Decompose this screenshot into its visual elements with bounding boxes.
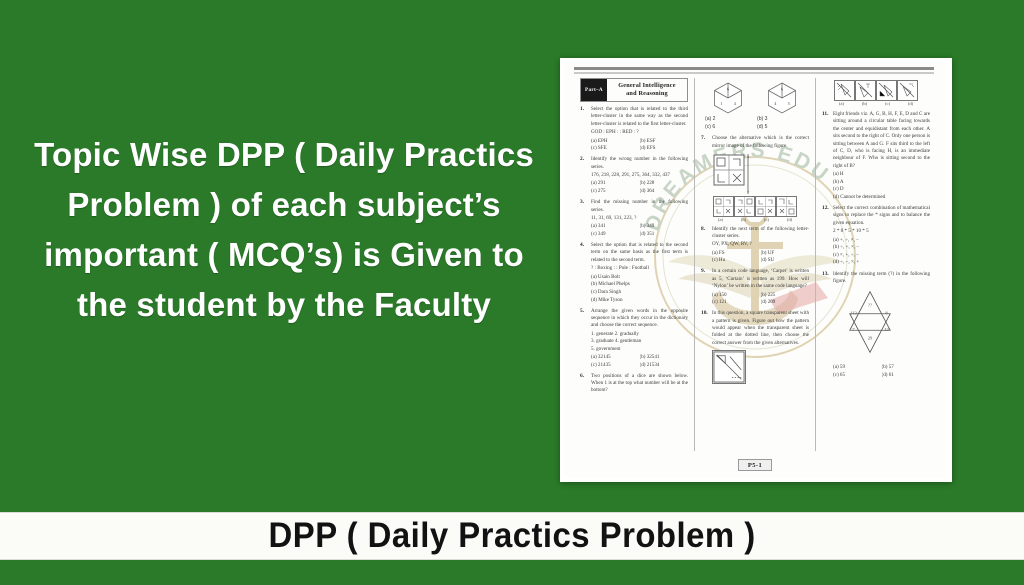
option: (d) 351: [640, 231, 689, 239]
figure-label: (b): [732, 217, 755, 222]
question-number: 12.: [822, 205, 833, 267]
question-sub: OY, PX, QW, RV, ?: [712, 241, 809, 248]
option: (c) 121: [712, 299, 761, 307]
svg-text:13: 13: [884, 328, 889, 333]
question-number: 11.: [822, 111, 833, 202]
svg-text:113: 113: [850, 311, 857, 316]
dice-options: (a) 2 (b) 3 (c) 6 (d) 5: [701, 116, 809, 131]
question-text: Select the option that is related to the…: [591, 106, 688, 128]
question-number: 3.: [580, 199, 591, 238]
question-options: (a) +, ÷, ×, − (b) ÷, +, ×, − (c) ×, +, …: [833, 237, 930, 268]
question-item: 13. Identify the missing term (?) in the…: [822, 271, 930, 380]
question-item: 6. Two positions of a dice are shown bel…: [580, 373, 688, 395]
question-options: (a) EPH (b) ESF (c) SFE (d) EFS: [591, 138, 688, 153]
figure-label: (d): [778, 217, 801, 222]
figure-label: (c): [755, 217, 778, 222]
svg-text:Y: Y: [747, 190, 750, 194]
option: (c) 21435: [591, 362, 640, 370]
question-item: 5. Arrange the given words in the opposi…: [580, 308, 688, 370]
question-number: 1.: [580, 106, 591, 153]
mirror-answer-d: [897, 80, 918, 101]
option: (a) 2: [705, 116, 757, 124]
question-sub: 2 * 8 * 5 * 10 * 5: [833, 228, 930, 235]
part-title-text1: General Intelligence: [618, 82, 675, 90]
bottom-banner: DPP ( Daily Practics Problem ): [0, 512, 1024, 560]
question-text: Identify the wrong number in the followi…: [591, 156, 688, 171]
star-of-david-figure: ?? 113 8 7 13 29: [833, 288, 907, 356]
document-image: DREAMERS EDU Part–A: [560, 58, 952, 482]
folded-sheet-figure: [712, 350, 746, 384]
question-item: 12. Select the correct combination of ma…: [822, 205, 930, 267]
figure-label: (a): [830, 101, 853, 106]
option: (b) 349: [640, 223, 689, 231]
question-text: Select the option that is related to the…: [591, 242, 688, 264]
option: (d) ÷, −, ×, +: [833, 259, 930, 267]
option: (c) Dara Singh: [591, 289, 688, 297]
question-item: 10. In this question, a square transpare…: [701, 310, 809, 392]
option: (d) EFS: [640, 145, 689, 153]
answer-figure-labels: (a) (b) (c) (d): [701, 217, 809, 222]
mirror-figure-svg: X Y: [713, 154, 753, 194]
option: (c) 275: [591, 188, 640, 196]
option: (b) 3: [757, 116, 809, 124]
svg-text:??: ??: [868, 303, 872, 308]
question-text: Identify the missing term (?) in the fol…: [833, 271, 930, 286]
option: (c) SFE: [591, 145, 640, 153]
question-number: 7.: [701, 135, 712, 150]
mirror-answer-b: [855, 80, 876, 101]
page-rule-top: [574, 67, 934, 70]
question-text: Choose the alternative which is the corr…: [712, 135, 809, 150]
dice-figure-2: 6 4 5: [767, 81, 797, 115]
mirror-answer-a: [834, 80, 855, 101]
option: (d) 61: [882, 372, 931, 380]
question-text: Two positions of a dice are shown below.…: [591, 373, 688, 395]
question-sub: 11, 31, 69, 131, 223, ?: [591, 215, 688, 222]
option: (a) FS: [712, 250, 761, 258]
option: (d) 5: [757, 124, 809, 132]
document-page: DREAMERS EDU Part–A: [564, 62, 946, 477]
question-sub: ? : Boxing : : Pole : Football: [591, 265, 688, 272]
option: (b) A: [833, 179, 930, 187]
figure-label: (a): [709, 217, 732, 222]
document-column-right: (a) (b) (c) (d) 11. Eight friends viz. A…: [815, 78, 936, 451]
svg-text:29: 29: [868, 336, 873, 341]
answer-figure-row: [701, 196, 809, 217]
document-columns: Part–A General Intelligence and Reasonin…: [574, 78, 936, 451]
promo-slide: Topic Wise DPP ( Daily Practics Problem …: [0, 0, 1024, 585]
option: (a) 150: [712, 292, 761, 300]
question-number: 4.: [580, 242, 591, 304]
mirror-answer-c: [876, 80, 897, 101]
question-options: (a) 341 (b) 349 (c) 349 (d) 351: [591, 223, 688, 238]
question-options: (a) 59 (b) 57 (c) 65 (d) 61: [833, 364, 930, 379]
question-text: Arrange the given words in the opposite …: [591, 308, 688, 330]
option: (c) ×, +, ÷, −: [833, 252, 930, 260]
option: (d) Mike Tyson: [591, 297, 688, 305]
svg-text:8: 8: [885, 311, 888, 316]
document-column-left: Part–A General Intelligence and Reasonin…: [574, 78, 694, 451]
option: (b) 228: [640, 180, 689, 188]
dice-figure-row: 6 1 4 6 4 5: [701, 81, 809, 115]
question-options: (a) H (b) A (c) D (d) Cannot be determin…: [833, 171, 930, 202]
dice-figure-1: 6 1 4: [713, 81, 743, 115]
option: (b) 32541: [640, 354, 689, 362]
figure-label: (d): [899, 101, 922, 106]
option: (a) Usain Bolt: [591, 274, 688, 282]
question-number: 13.: [822, 271, 833, 380]
option: (a) H: [833, 171, 930, 179]
answer-figure-c: [755, 196, 776, 217]
question-item: 8. Identify the next term of the followi…: [701, 226, 809, 265]
option: (a) 341: [591, 223, 640, 231]
document-footer: P5-1: [564, 459, 946, 471]
question-options: (a) Usain Bolt (b) Michael Phelps (c) Da…: [591, 274, 688, 305]
option: (d) 209: [761, 299, 810, 307]
question-number: 9.: [701, 268, 712, 306]
question-item: 2. Identify the wrong number in the foll…: [580, 156, 688, 195]
option: (c) D: [833, 186, 930, 194]
svg-text:X: X: [747, 155, 750, 159]
question-options: (a) 150 (b) 225 (c) 121 (d) 209: [712, 292, 809, 307]
part-title: General Intelligence and Reasoning: [607, 79, 687, 101]
question-item: 7. Choose the alternative which is the c…: [701, 135, 809, 150]
answer-figure-b: [734, 196, 755, 217]
option: (c) 6: [705, 124, 757, 132]
question-options: (a) 32145 (b) 32541 (c) 21435 (d) 21534: [591, 354, 688, 369]
document-column-middle: 6 1 4 6 4 5: [694, 78, 815, 451]
question-sub: GOD : EPH : : RED : ?: [591, 129, 688, 136]
part-title-text2: and Reasoning: [626, 90, 668, 98]
page-rule-second: [574, 72, 934, 74]
page-number-tag: P5-1: [738, 459, 772, 471]
question-sub: 1. generate 2. gradually 3. graduate 4. …: [591, 331, 688, 353]
question-text: Select the correct combination of mathem…: [833, 205, 930, 227]
part-header: Part–A General Intelligence and Reasonin…: [580, 78, 688, 102]
question-number: 6.: [580, 373, 591, 395]
option: (b) ESF: [640, 138, 689, 146]
option: (b) ÷, +, ×, −: [833, 244, 930, 252]
question-text: Eight friends viz. A, G, B, H, F, E, D a…: [833, 111, 930, 170]
question-text: In a certain code language, ‘Carpet’ is …: [712, 268, 809, 290]
mirror-answer-row: [822, 80, 930, 101]
headline-block: Topic Wise DPP ( Daily Practics Problem …: [24, 130, 544, 331]
question-options: (a) FS (b) UF (c) Hu (d) SU: [712, 250, 809, 265]
option: (c) 349: [591, 231, 640, 239]
answer-figure-d: [776, 196, 797, 217]
question-text: In this question, a square transparent s…: [712, 310, 809, 347]
question-number: 5.: [580, 308, 591, 370]
option: (a) 32145: [591, 354, 640, 362]
question-number: 8.: [701, 226, 712, 265]
mirror-figure: X Y: [701, 154, 809, 194]
question-item: 1. Select the option that is related to …: [580, 106, 688, 153]
option: (b) 57: [882, 364, 931, 372]
question-text: Identify the next term of the following …: [712, 226, 809, 241]
option: (d) Cannot be determined: [833, 194, 930, 202]
question-number: 10.: [701, 310, 712, 392]
option: (a) EPH: [591, 138, 640, 146]
option: (b) UF: [761, 250, 810, 258]
option: (b) Michael Phelps: [591, 281, 688, 289]
option: (d) 21534: [640, 362, 689, 370]
option: (d) 364: [640, 188, 689, 196]
figure-label: (b): [853, 101, 876, 106]
page-title: Topic Wise DPP ( Daily Practics Problem …: [24, 130, 544, 331]
bottom-banner-title: DPP ( Daily Practics Problem ): [268, 516, 755, 556]
question-item: 11. Eight friends viz. A, G, B, H, F, E,…: [822, 111, 930, 202]
question-sub: 176, 218, 228, 291, 275, 364, 332, 437: [591, 172, 688, 179]
option: (c) Hu: [712, 257, 761, 265]
question-item: 3. Find the missing number in the follow…: [580, 199, 688, 238]
question-item: 4. Select the option that is related to …: [580, 242, 688, 304]
option: (a) +, ÷, ×, −: [833, 237, 930, 245]
svg-text:7: 7: [852, 328, 855, 333]
figure-label: (c): [876, 101, 899, 106]
question-text: Find the missing number in the following…: [591, 199, 688, 214]
question-number: 2.: [580, 156, 591, 195]
option: (c) 65: [833, 372, 882, 380]
question-item: 9. In a certain code language, ‘Carpet’ …: [701, 268, 809, 306]
option: (d) SU: [761, 257, 810, 265]
option: (a) 59: [833, 364, 882, 372]
option: (a) 291: [591, 180, 640, 188]
mirror-answer-labels: (a) (b) (c) (d): [822, 101, 930, 106]
option: (b) 225: [761, 292, 810, 300]
part-badge: Part–A: [581, 79, 607, 101]
question-options: (a) 291 (b) 228 (c) 275 (d) 364: [591, 180, 688, 195]
answer-figure-a: [713, 196, 734, 217]
svg-text:1: 1: [720, 101, 722, 106]
